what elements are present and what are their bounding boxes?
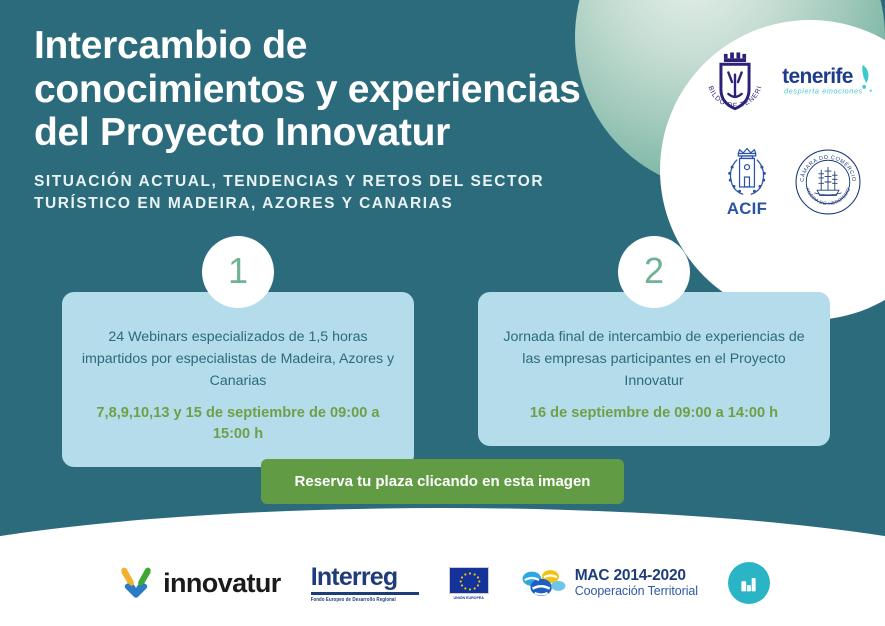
step-number-2: 2	[644, 253, 664, 292]
subtitle-line-2: TURÍSTICO EN MADEIRA, AZORES Y CANARIAS	[34, 193, 674, 215]
eu-flag-logo: UNIÓN EUROPEA	[449, 567, 489, 600]
title-line-3: del Proyecto Innovatur	[34, 111, 674, 155]
acif-logo: ACIF	[716, 146, 778, 218]
bar-chart-icon	[739, 574, 758, 593]
header: Intercambio de conocimientos y experienc…	[34, 24, 674, 216]
camara-do-comercio-logo: CÂMARA DO COMÉRCIO ANGRA DO HEROÍSMO	[794, 148, 862, 216]
cabildo-de-tenerife-logo: CABILDO DE TENERIFE	[698, 48, 772, 122]
chart-badge-circle	[728, 562, 770, 604]
title-line-2: conocimientos y experiencias	[34, 68, 674, 112]
page-title: Intercambio de conocimientos y experienc…	[34, 24, 674, 155]
poster-canvas: Intercambio de conocimientos y experienc…	[0, 0, 885, 626]
step-number-badge-2: 2	[618, 236, 690, 308]
svg-text:despierta emociones: despierta emociones	[784, 88, 863, 96]
step-description-2: Jornada final de intercambio de experien…	[496, 326, 812, 392]
innovatur-logo: innovatur	[115, 564, 281, 602]
innovatur-wordmark: innovatur	[163, 568, 281, 599]
step-number-1: 1	[228, 253, 248, 292]
interreg-subtitle: Fondo Europeo de Desarrollo Regional	[311, 596, 396, 602]
interreg-wordmark: Interreg	[311, 565, 398, 590]
partner-logo-group: CABILDO DE TENERIFE	[690, 48, 880, 233]
mac-subtitle: Cooperación Territorial	[575, 585, 698, 598]
title-line-1: Intercambio de	[34, 24, 674, 68]
svg-text:ACIF: ACIF	[727, 199, 767, 218]
step-date-1: 7,8,9,10,13 y 15 de septiembre de 09:00 …	[80, 403, 396, 445]
subtitle-line-1: SITUACIÓN ACTUAL, TENDENCIAS Y RETOS DEL…	[34, 171, 674, 193]
mac-logo: MAC 2014-2020 Cooperación Territorial	[519, 564, 698, 602]
tenerife-logo: tenerife despierta emociones	[782, 62, 878, 106]
step-card-body-1: 24 Webinars especializados de 1,5 horas …	[62, 292, 414, 467]
reserve-seat-button[interactable]: Reserva tu plaza clicando en esta imagen	[261, 459, 625, 504]
page-subtitle: SITUACIÓN ACTUAL, TENDENCIAS Y RETOS DEL…	[34, 171, 674, 216]
mac-islands-icon	[519, 564, 569, 602]
chart-badge-logo	[728, 562, 770, 604]
step-card-body-2: Jornada final de intercambio de experien…	[478, 292, 830, 446]
eu-flag-caption: UNIÓN EUROPEA	[454, 596, 484, 600]
step-description-1: 24 Webinars especializados de 1,5 horas …	[80, 326, 396, 392]
interreg-rule	[311, 592, 419, 595]
interreg-logo: Interreg Fondo Europeo de Desarrollo Reg…	[311, 565, 419, 602]
step-date-2: 16 de septiembre de 09:00 a 14:00 h	[496, 403, 812, 424]
svg-text:tenerife: tenerife	[782, 65, 853, 88]
step-number-badge-1: 1	[202, 236, 274, 308]
footer-logo-group: innovatur Interreg Fondo Europeo de Desa…	[0, 548, 885, 618]
mac-title: MAC 2014-2020	[575, 568, 698, 584]
eu-flag-icon	[449, 567, 489, 594]
